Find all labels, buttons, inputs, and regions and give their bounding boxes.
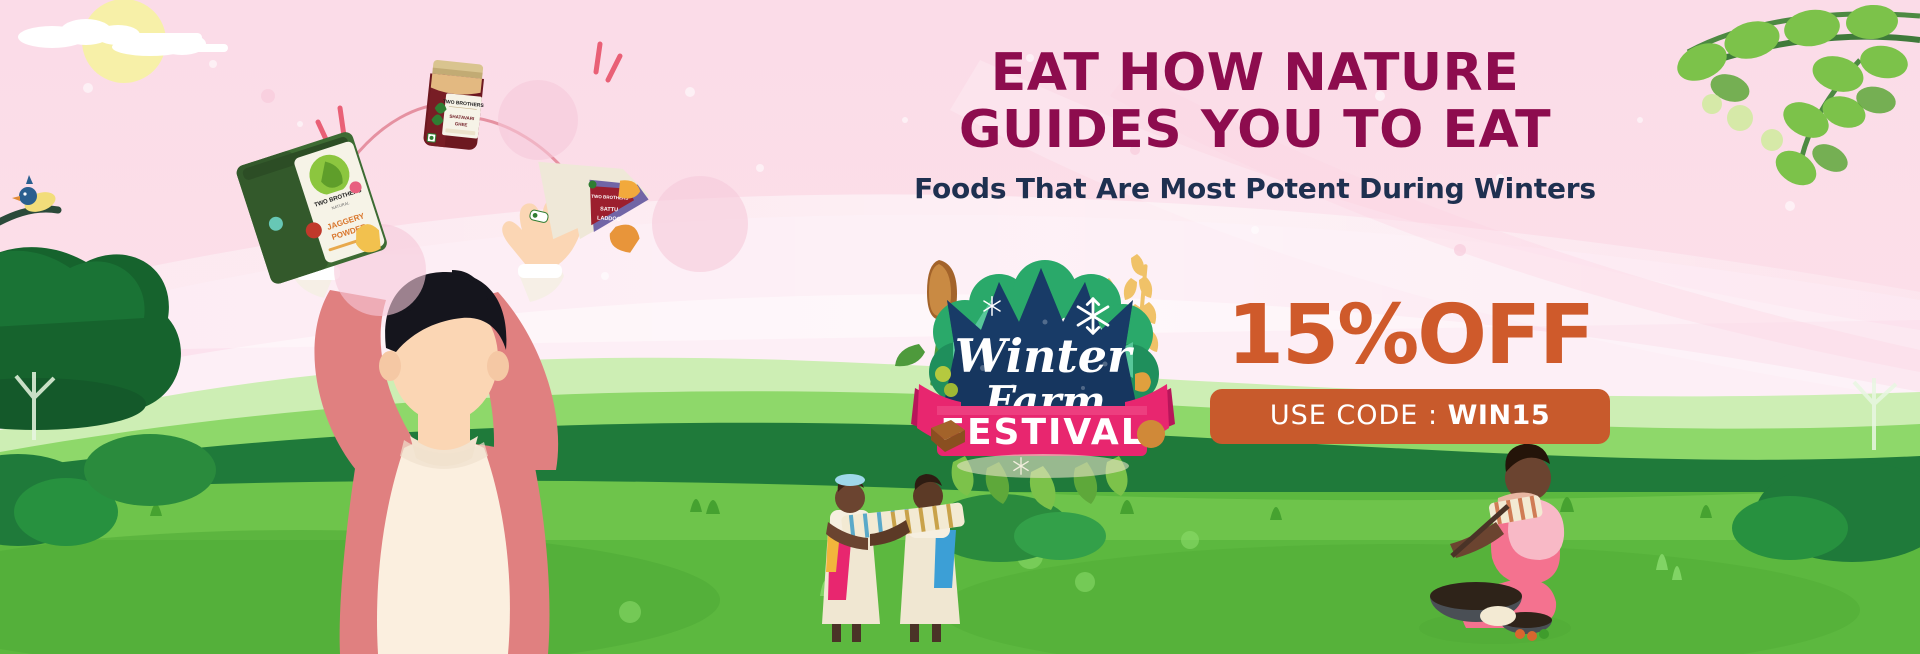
badge-script-winter: Winter [955,329,1135,383]
winter-farm-festival-badge: Winter Farm FESTIVAL [895,238,1185,498]
discount-text: 15%OFF [1210,295,1610,377]
promo-code-prefix: USE CODE : [1270,400,1448,431]
offer-block: 15%OFF USE CODE : WIN15 [1210,295,1610,444]
page-title: EAT HOW NATURE GUIDES YOU TO EAT [905,48,1605,156]
promo-code-pill[interactable]: USE CODE : WIN15 [1210,389,1610,444]
badge-ribbon-text: FESTIVAL [940,412,1145,453]
headline-line-2: GUIDES YOU TO EAT [905,105,1605,156]
headline-line-1: EAT HOW NATURE [991,43,1519,103]
promotional-banner: TWO BROTHERS NATURAL JAGGERY POWDER TWO … [0,0,1920,654]
box-product-line2: LADDOO [597,215,622,222]
headline-block: EAT HOW NATURE GUIDES YOU TO EAT Foods T… [905,48,1605,205]
promo-code-value: WIN15 [1448,400,1551,431]
box-product-line1: SATTU [600,206,618,213]
subtitle: Foods That Are Most Potent During Winter… [905,172,1605,205]
product-shatavari-ghee-jar[interactable]: TWO BROTHERS SHATAVARI GHEE [410,56,497,156]
